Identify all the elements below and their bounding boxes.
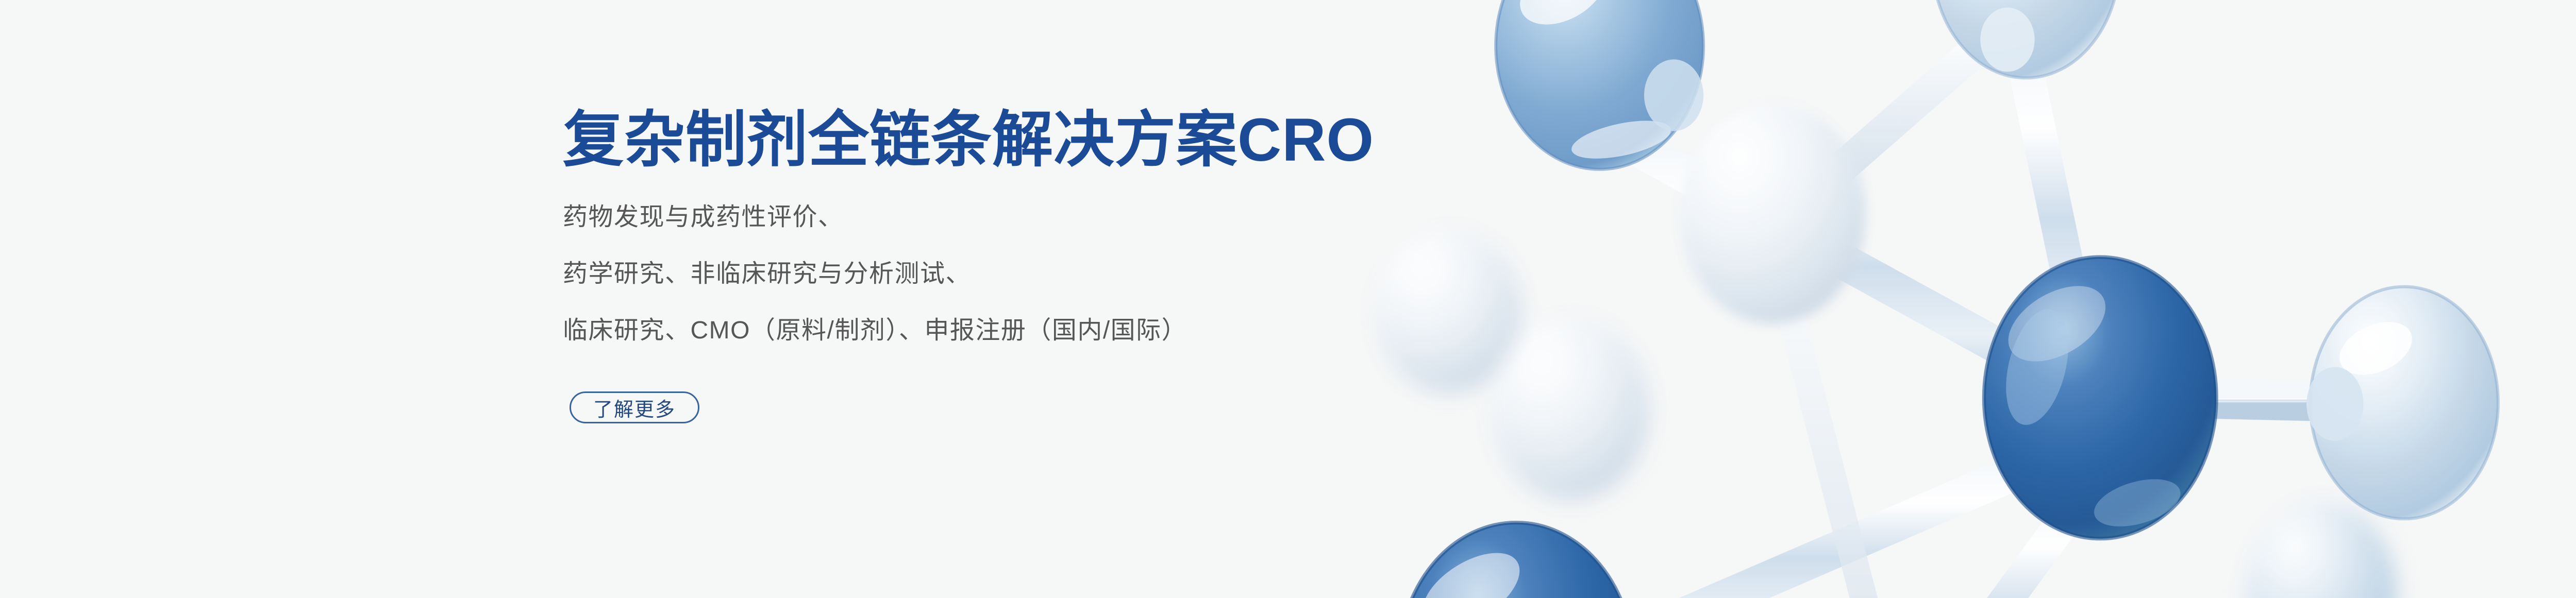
- atom-left-small-2: [1491, 317, 1649, 500]
- atom-mid-left-back: [1680, 104, 1865, 324]
- molecule-bonds: [1587, 33, 2379, 598]
- bond-core-to-bottomleft: [1587, 459, 2045, 598]
- page-title: 复杂制剂全链条解决方案CRO: [563, 106, 1439, 174]
- molecule-svg: [1340, 0, 2576, 598]
- subtitle-line-2: 药学研究、非临床研究与分析测试、: [563, 262, 1439, 286]
- atom-right-shadow: [2246, 502, 2397, 598]
- subtitle-line-3: 临床研究、CMO（原料/制剂）、申报注册（国内/国际）: [563, 318, 1439, 343]
- molecule-illustration: [1340, 0, 2576, 598]
- midground-atoms: [1680, 104, 1865, 324]
- hero-copy: 复杂制剂全链条解决方案CRO 药物发现与成药性评价、 药学研究、非临床研究与分析…: [563, 106, 1439, 343]
- hero-banner: 复杂制剂全链条解决方案CRO 药物发现与成药性评价、 药学研究、非临床研究与分析…: [0, 0, 2576, 598]
- subtitle-block: 药物发现与成药性评价、 药学研究、非临床研究与分析测试、 临床研究、CMO（原料…: [563, 205, 1439, 343]
- atom-top-left: [1496, 0, 1703, 169]
- atom-center-core: [1984, 257, 2216, 539]
- atom-right-pale: [2306, 287, 2498, 519]
- atom-bottom-left: [1399, 523, 1634, 598]
- learn-more-button[interactable]: 了解更多: [570, 391, 699, 423]
- subtitle-line-1: 药物发现与成药性评价、: [563, 205, 1439, 230]
